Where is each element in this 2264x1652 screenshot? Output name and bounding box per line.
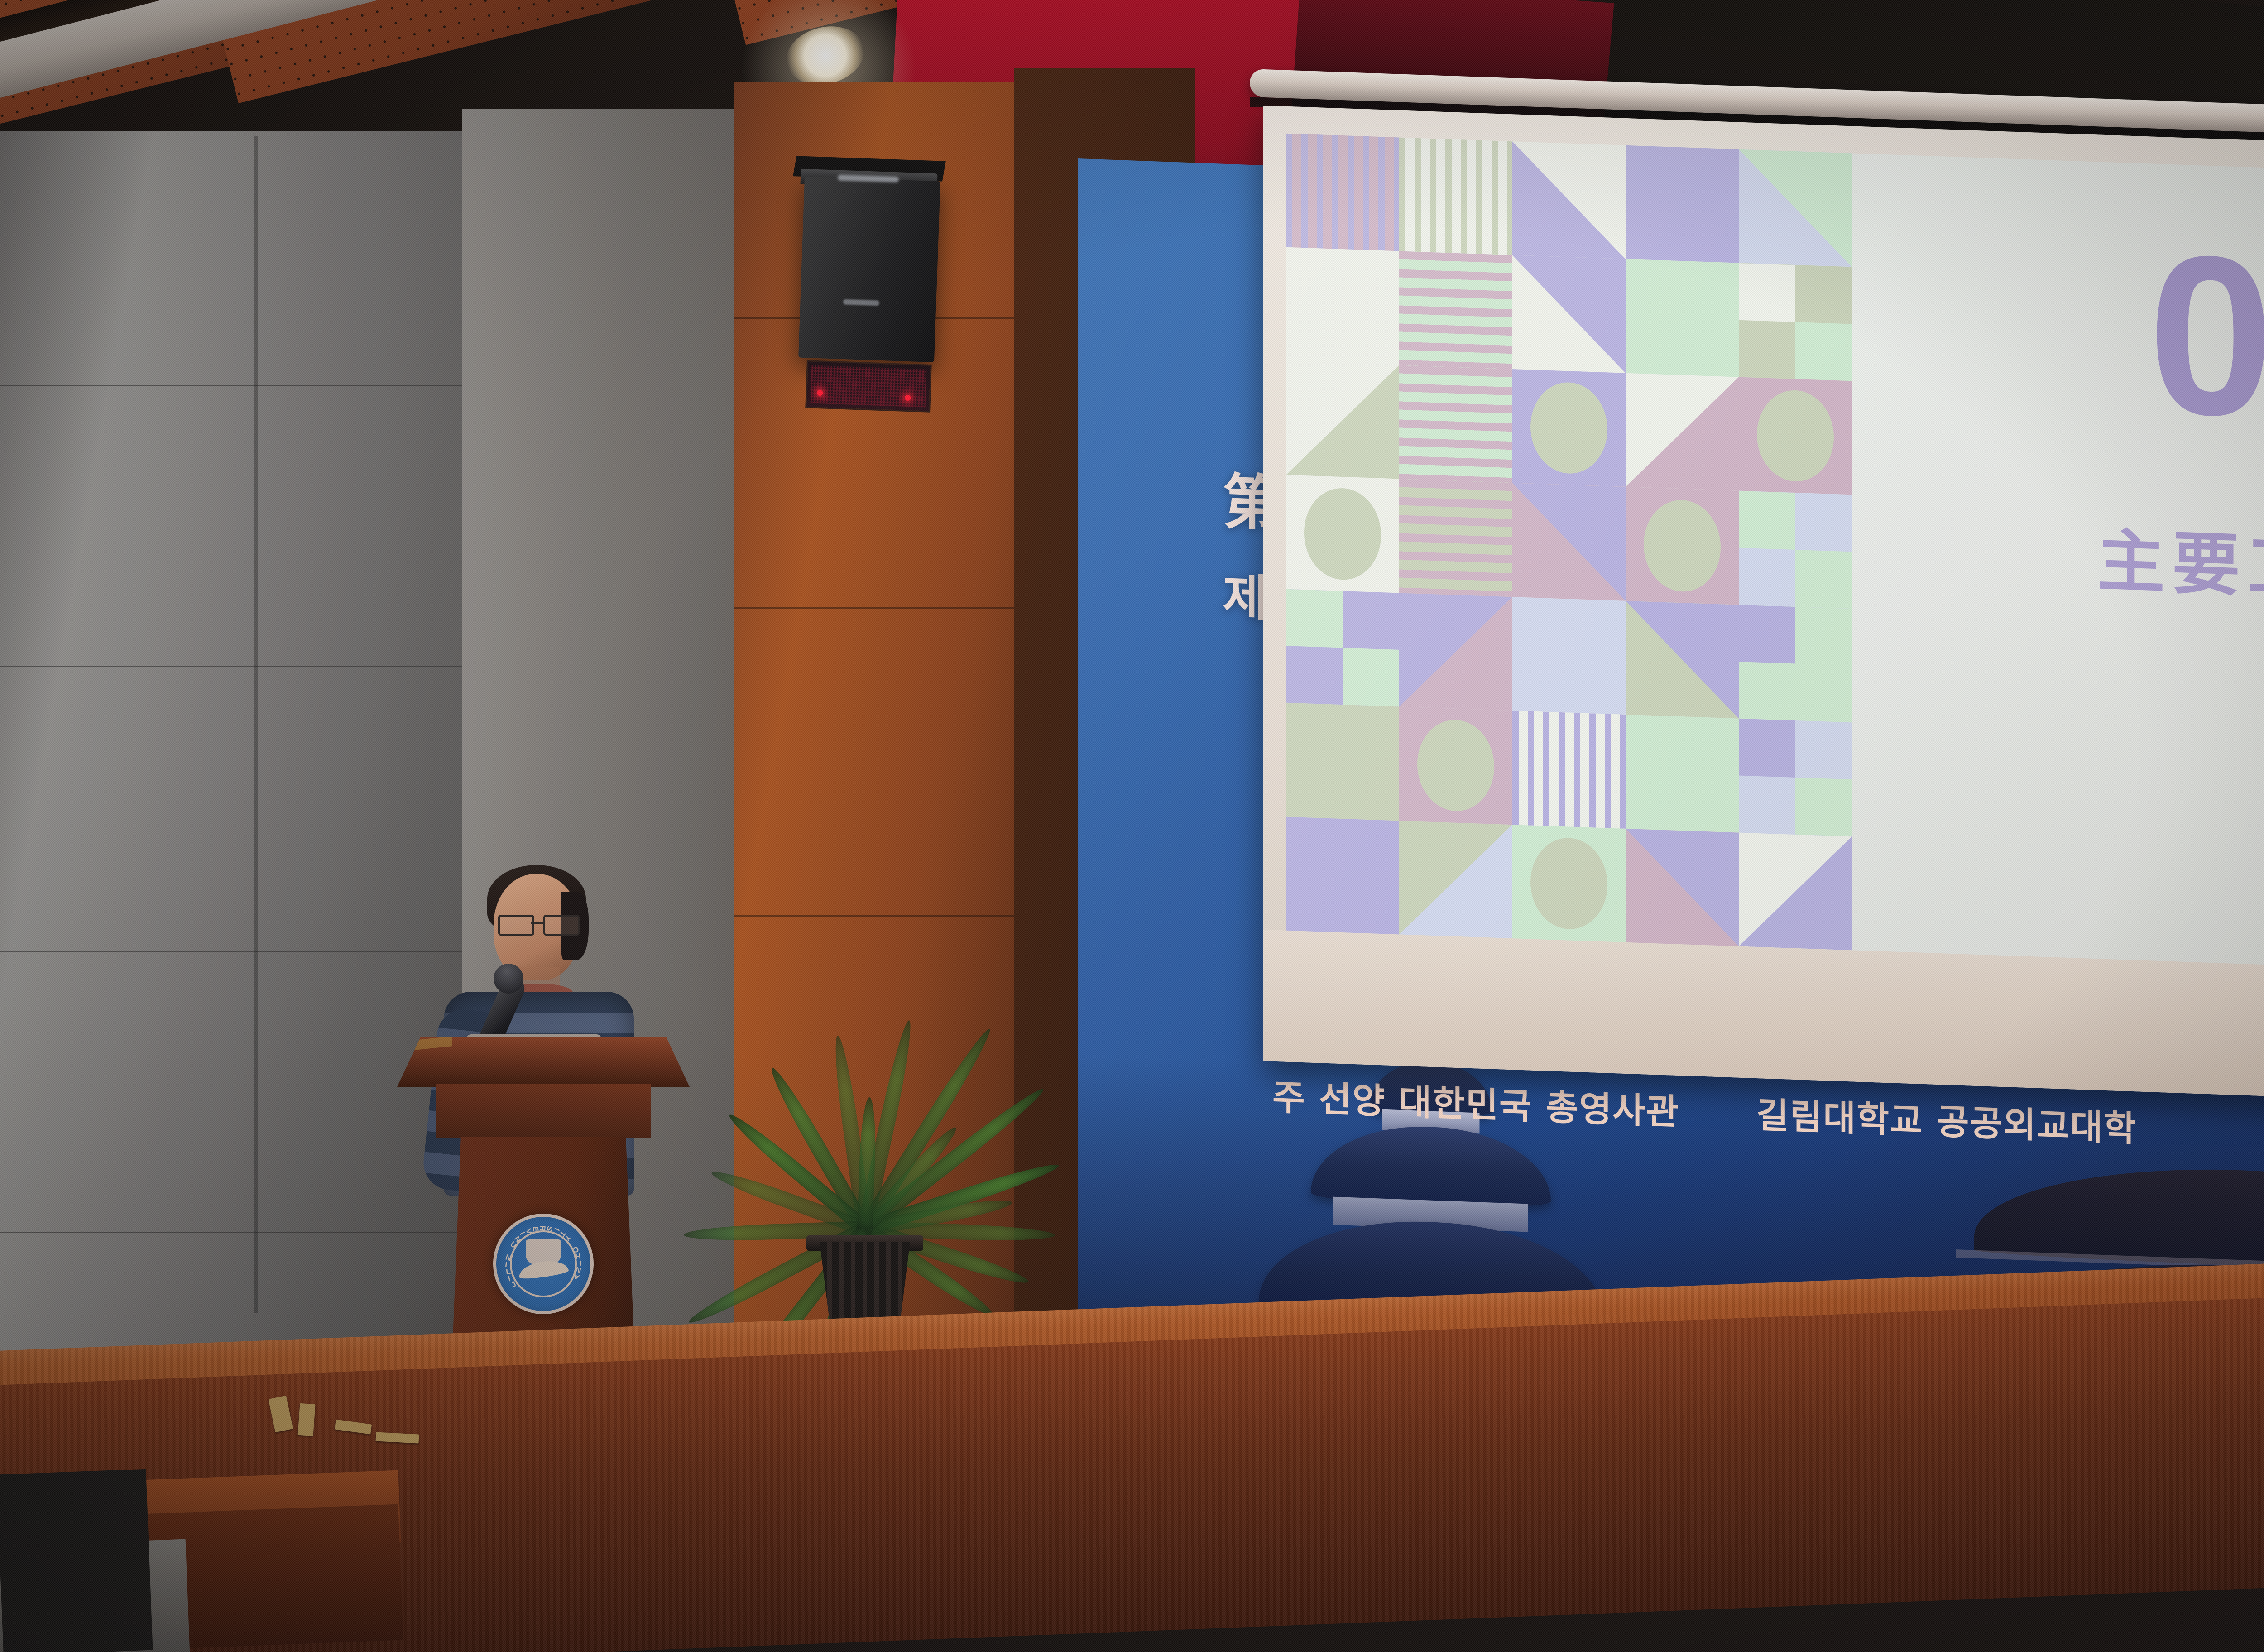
presentation-slide: 02 主要工作 xyxy=(1286,134,2264,972)
podium-neck xyxy=(436,1084,651,1138)
pattern-cell xyxy=(1399,365,1512,483)
pattern-cell xyxy=(1399,593,1512,711)
pattern-cell xyxy=(1626,487,1739,605)
pattern-cell xyxy=(1739,832,1852,950)
pattern-cell xyxy=(1626,373,1739,491)
projection-screen: 02 主要工作 xyxy=(1263,106,2264,1104)
glasses-icon xyxy=(498,915,580,933)
pattern-cell xyxy=(1286,703,1399,821)
slide-section-title: 主要工作 xyxy=(2097,506,2264,615)
pattern-cell xyxy=(1739,719,1852,836)
pattern-cell xyxy=(1739,149,1852,267)
pattern-cell xyxy=(1512,597,1626,715)
wall-panel-left xyxy=(0,131,471,1445)
pattern-cell xyxy=(1626,715,1739,832)
wall-speaker xyxy=(798,177,940,362)
university-emblem-icon: JILIN UNIVERSITY CHINA xyxy=(493,1214,594,1314)
dark-wall-left-bottom xyxy=(0,1469,153,1652)
pattern-cell xyxy=(1512,369,1626,487)
pattern-cell xyxy=(1286,361,1399,479)
led-indicator-panel xyxy=(805,360,932,413)
pattern-cell xyxy=(1626,259,1739,377)
pattern-cell xyxy=(1286,475,1399,593)
pattern-cell xyxy=(1286,589,1399,706)
pattern-cell xyxy=(1739,605,1852,722)
wall-corner-seam xyxy=(254,136,258,1313)
slide-section-number: 02 xyxy=(2148,231,2264,444)
pattern-cell xyxy=(1512,483,1626,600)
floor-debris xyxy=(298,1403,316,1436)
pattern-cell xyxy=(1286,816,1399,934)
pattern-cell xyxy=(1512,255,1626,373)
pattern-cell xyxy=(1626,145,1739,263)
pattern-cell xyxy=(1512,825,1626,942)
pattern-cell xyxy=(1512,141,1626,259)
pattern-cell xyxy=(1512,711,1626,828)
pattern-cell xyxy=(1739,377,1852,495)
pattern-cell xyxy=(1286,247,1399,365)
pattern-cell xyxy=(1739,263,1852,381)
projection-screen-assembly: 02 主要工作 xyxy=(1263,97,2264,1105)
lecture-hall-photo: 第四 제4호 交流 주최기관 주 선양 대한민국 총영사관 길림대학교 공공외교… xyxy=(0,0,2264,1652)
podium-top-surface xyxy=(397,1037,690,1087)
pattern-cell xyxy=(1626,601,1739,719)
pattern-cell xyxy=(1739,491,1852,609)
slide-geometric-pattern xyxy=(1286,134,1852,951)
pattern-cell xyxy=(1399,479,1512,597)
pattern-cell xyxy=(1399,707,1512,825)
pattern-cell xyxy=(1626,828,1739,946)
potted-plant xyxy=(625,734,1105,1359)
pattern-cell xyxy=(1399,137,1512,255)
pattern-cell xyxy=(1399,821,1512,938)
pattern-cell xyxy=(1399,251,1512,369)
pattern-cell xyxy=(1286,134,1399,251)
emblem-ring-text: JILIN UNIVERSITY CHINA xyxy=(498,1219,589,1309)
